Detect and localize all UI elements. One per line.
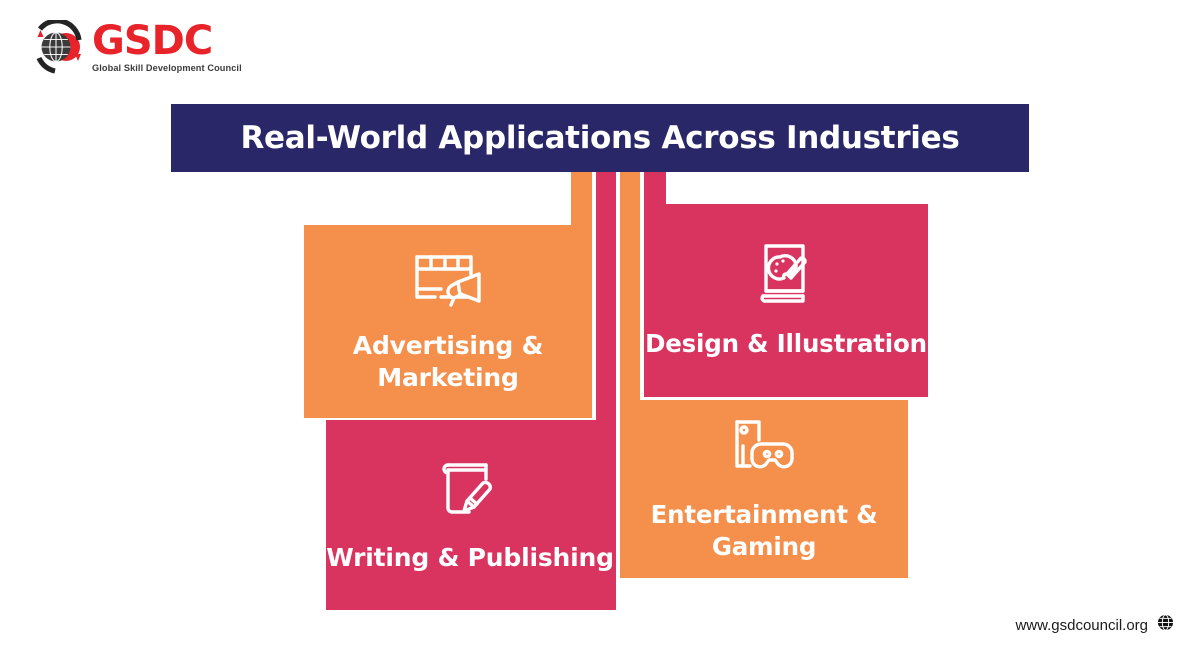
card-label: Entertainment & Gaming	[620, 499, 908, 561]
gsdc-globe-logo-icon	[28, 20, 90, 78]
notebook-pencil-icon	[437, 457, 503, 528]
book-palette-icon	[755, 241, 817, 314]
card-label: Design & Illustration	[645, 328, 927, 359]
card-writing-publishing[interactable]: Writing & Publishing	[326, 420, 614, 610]
page-title: Real-World Applications Across Industrie…	[240, 120, 959, 156]
card-label: Advertising & Marketing	[304, 330, 592, 394]
footer: www.gsdcouncil.org	[1015, 614, 1174, 636]
logo-tagline: Global Skill Development Council	[92, 63, 242, 73]
card-entertainment-gaming[interactable]: Entertainment & Gaming	[620, 400, 908, 578]
title-banner: Real-World Applications Across Industrie…	[171, 104, 1029, 172]
logo-text-block: GSDC Global Skill Development Council	[92, 20, 242, 73]
globe-icon	[1157, 614, 1174, 636]
logo-wordmark: GSDC	[92, 20, 242, 62]
card-design-illustration[interactable]: Design & Illustration	[644, 204, 928, 397]
footer-url[interactable]: www.gsdcouncil.org	[1015, 617, 1148, 634]
card-label: Writing & Publishing	[326, 542, 614, 574]
gsdc-logo: GSDC Global Skill Development Council	[28, 14, 238, 86]
console-gamepad-icon	[729, 416, 799, 485]
card-advertising-marketing[interactable]: Advertising & Marketing	[304, 225, 592, 418]
billboard-megaphone-icon	[411, 249, 485, 316]
